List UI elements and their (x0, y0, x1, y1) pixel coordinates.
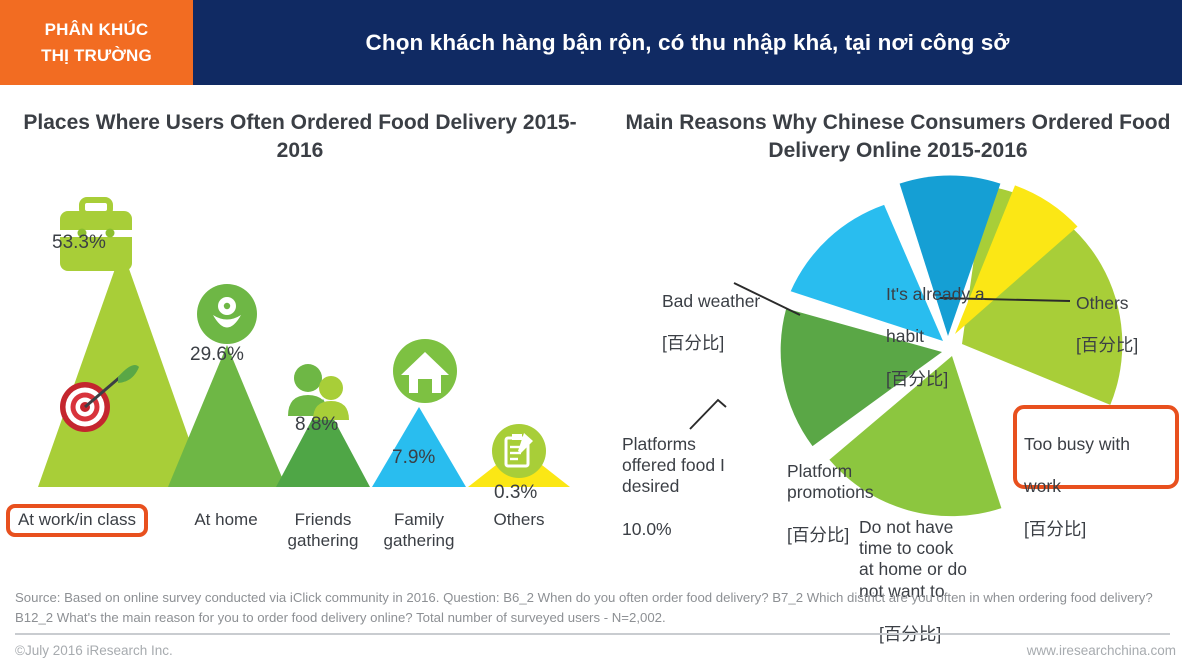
bar-value-family: 7.9% (392, 447, 435, 469)
page-header: PHÂN KHÚC THỊ TRƯỜNG Chọn khách hàng bận… (0, 0, 1182, 85)
pie-label-too-busy-name2: work (1024, 476, 1130, 497)
triangle-bar-chart: 53.3% 29.6% 8.8% 7.9% 0.3% At work/in cl… (0, 164, 600, 564)
pie-label-bad-weather: Bad weather [百分比] (662, 269, 760, 376)
pie-label-desired: Platforms offered food I desired 10.0% (622, 412, 725, 561)
pie-label-habit: It's already a habit [百分比] (886, 262, 985, 411)
pie-label-habit-name2: habit (886, 326, 985, 347)
pie-chart: Bad weather [百分比] It's already a habit [… (600, 164, 1182, 564)
source-note: Source: Based on online survey conducted… (15, 588, 1170, 629)
bar-value-friends: 8.8% (295, 414, 338, 436)
pie-label-habit-value: [百分比] (886, 369, 985, 390)
pie-label-too-busy-name: Too busy with (1024, 434, 1130, 455)
pie-label-desired-name: Platforms offered food I desired (622, 434, 725, 498)
website-link[interactable]: www.iresearchchina.com (1027, 643, 1176, 658)
bar-value-at-work: 53.3% (52, 232, 106, 254)
right-chart-panel: Main Reasons Why Chinese Consumers Order… (600, 95, 1182, 575)
footer-divider (15, 633, 1170, 635)
bar-at-work (38, 249, 206, 487)
pie-label-others-value: [百分比] (1076, 335, 1138, 356)
pie-label-bad-weather-name: Bad weather (662, 291, 760, 312)
bar-category-at-work[interactable]: At work/in class (12, 510, 142, 530)
pie-label-too-busy-value: [百分比] (1024, 519, 1130, 540)
bar-category-others[interactable]: Others (466, 510, 572, 530)
left-chart-title: Places Where Users Often Ordered Food De… (0, 95, 600, 164)
pie-label-habit-name: It's already a (886, 284, 985, 305)
copyright-text: ©July 2016 iResearch Inc. (15, 643, 173, 658)
location-pin-icon (197, 284, 257, 344)
bar-value-at-home: 29.6% (190, 344, 244, 366)
pie-label-bad-weather-value: [百分比] (662, 333, 760, 354)
pie-label-others: Others [百分比] (1076, 271, 1138, 378)
page-footer: Source: Based on online survey conducted… (0, 588, 1182, 664)
clipboard-icon (492, 424, 546, 478)
segment-tag-line2: THỊ TRƯỜNG (41, 43, 152, 69)
bar-category-family[interactable]: Family gathering (362, 510, 476, 551)
slide-title: Chọn khách hàng bận rộn, có thu nhập khá… (366, 30, 1010, 56)
slide-title-bar: Chọn khách hàng bận rộn, có thu nhập khá… (193, 0, 1182, 85)
pie-label-others-name: Others (1076, 293, 1138, 314)
bar-at-home (168, 345, 286, 487)
segment-tag-block: PHÂN KHÚC THỊ TRƯỜNG (0, 0, 193, 85)
segment-tag-line1: PHÂN KHÚC (45, 17, 149, 43)
left-chart-panel: Places Where Users Often Ordered Food De… (0, 95, 600, 575)
right-chart-title: Main Reasons Why Chinese Consumers Order… (600, 95, 1182, 164)
people-icon (288, 364, 349, 420)
home-icon (393, 339, 457, 403)
bar-value-others: 0.3% (494, 482, 537, 504)
pie-label-desired-value: 10.0% (622, 519, 725, 540)
pie-label-too-busy[interactable]: Too busy with work [百分比] (1024, 412, 1130, 561)
